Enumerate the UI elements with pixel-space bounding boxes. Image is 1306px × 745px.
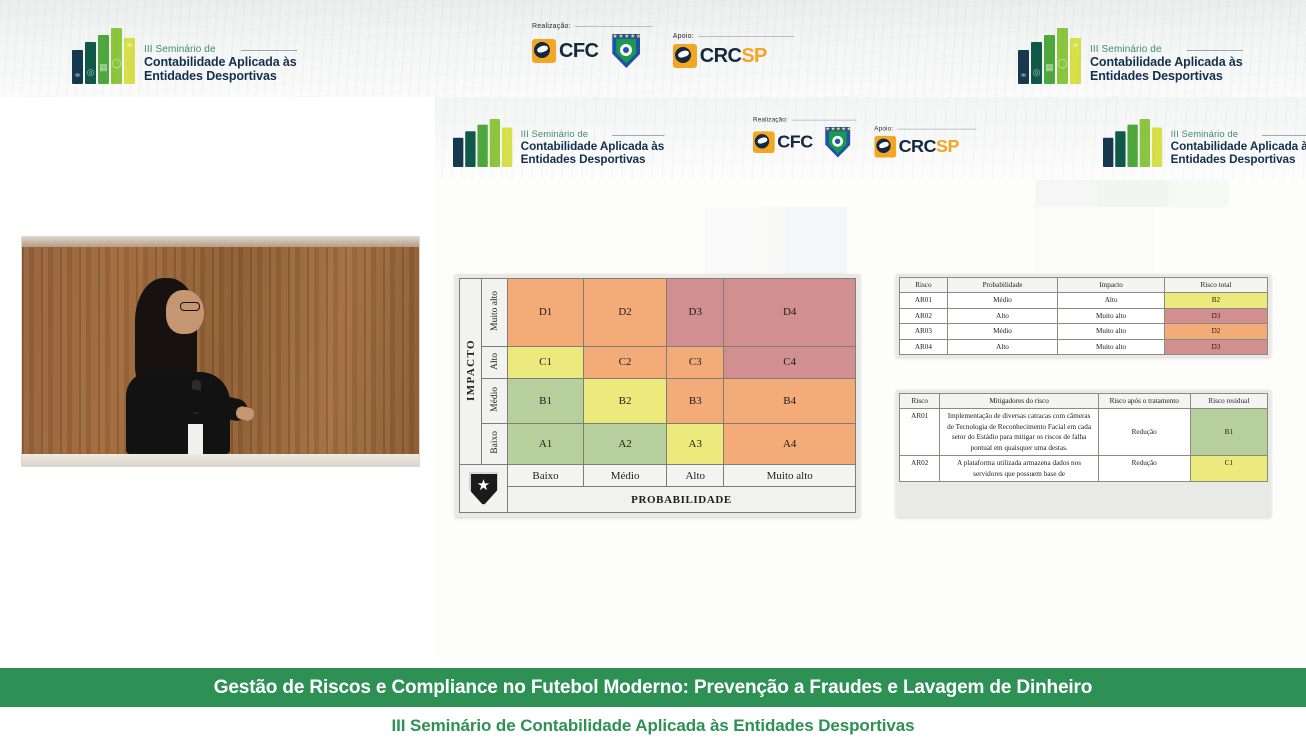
matrix-row: IMPACTO Muito alto D1 D2 D3 D4 [460,279,856,347]
impacto-axis-text: IMPACTO [465,339,477,401]
risk-matrix: IMPACTO Muito alto D1 D2 D3 D4 Alto C1 C… [455,274,860,517]
col-mitigadores: Mitigadores do risco [940,394,1098,409]
crcsp-wordmark: CRCSP [899,136,959,157]
slide-realizacao-block: Realização: CFC ★★★★★ [753,117,856,158]
cbf-globe [832,135,843,146]
matrix-cell-c2: C2 [584,346,667,378]
slide-logo-text: III Seminário de Contabilidade Aplicada … [521,129,664,167]
table-row: AR01 Implementação de diversas catracas … [900,409,1268,456]
seminar-logo-left: ⚭ ◎ ▦ ◯ ⚭ III Seminário de Contabilidade… [72,28,297,84]
presenter-glasses [180,302,200,311]
risk-summary-table-container: Risco Probabilidade Impacto Risco total … [896,274,1271,357]
left-blank-bottom [0,467,435,668]
matrix-axis-row: PROBABILIDADE [460,487,856,513]
logo-bar-1 [453,138,463,167]
mitigation-table-container: Risco Mitigadores do risco Risco após o … [896,390,1271,517]
table-row: AR02 A plataforma utilizada armazena dad… [900,456,1268,482]
cell-tratamento: Redução [1098,456,1190,482]
prob-level-medio: Médio [584,465,667,487]
cbf-stars: ★★★★★ [825,126,850,132]
cbf-crest-inner [829,131,847,154]
cfc-wordmark: CFC [559,40,598,63]
table-row: AR01 Médio Alto B2 [900,293,1268,308]
cell-risco-total: D3 [1164,308,1267,323]
matrix-cell-a2: A2 [584,423,667,464]
col-risco-apos: Risco após o tratamento [1098,394,1190,409]
slide-apoio-block: Apoio: CRCSP [874,126,976,158]
slide-cbf-crest-icon: ★★★★★ [825,127,850,158]
crcsp-mark-icon [673,44,697,68]
cell-residual: B1 [1190,409,1267,456]
logo-line-2: Contabilidade Aplicada às [521,140,664,153]
matrix-cell-a4: A4 [724,423,856,464]
cfc-logo: CFC [532,39,598,63]
cell-mitigador: Implementação de diversas catracas com c… [940,409,1098,456]
left-blank-top [0,97,435,236]
apoio-caption-text: Apoio: [673,33,694,40]
matrix-row: Alto C1 C2 C3 C4 [460,346,856,378]
impact-level-text: Muito alto [490,291,500,331]
logo-bar-2 [1115,131,1125,167]
caption-rule-2 [698,36,794,37]
sp-text: SP [741,45,766,67]
logo-bar-3 [477,125,487,167]
matrix-cell-c3: C3 [667,346,724,378]
logo-line-3: Entidades Desportivas [144,69,297,83]
video-top-strip [22,237,419,247]
risk-matrix-body: IMPACTO Muito alto D1 D2 D3 D4 Alto C1 C… [460,279,856,513]
slide-logo-right: III Seminário de Contabilidade Aplicada … [1103,119,1306,167]
logo-bar-1: ⚭ [1018,50,1029,84]
seminar-logo-text-right: III Seminário de Contabilidade Aplicada … [1090,44,1243,84]
impact-level-label: Alto [482,346,508,378]
logo-line-1: III Seminário de [144,44,297,55]
slide-logo-text-right: III Seminário de Contabilidade Aplicada … [1171,129,1306,167]
realizacao-logos: CFC ★★★★★ [532,34,653,68]
col-risco: Risco [900,278,948,293]
matrix-cell-c4: C4 [724,346,856,378]
col-risco-total: Risco total [1164,278,1267,293]
matrix-cell-d1: D1 [508,279,584,347]
matrix-cell-a1: A1 [508,423,584,464]
cell-probabilidade: Médio [947,293,1057,308]
logo-bar-1 [1103,138,1113,167]
cell-probabilidade: Médio [947,324,1057,339]
logo-line-3: Entidades Desportivas [1171,153,1306,166]
logo-line-2: Contabilidade Aplicada às [1171,140,1306,153]
cell-impacto: Alto [1058,293,1165,308]
slide-cfc-logo: CFC [753,131,813,153]
matrix-cell-d4: D4 [724,279,856,347]
impact-level-text: Médio [490,387,500,412]
slide-apoio-logos: CRCSP [874,136,976,158]
cell-risco: AR01 [900,293,948,308]
crcsp-mark-icon [874,136,896,158]
slide-apoio-label: Apoio: [874,126,976,132]
logo-bar-2: ◎ [1031,42,1042,84]
cell-impacto: Muito alto [1058,308,1165,323]
matrix-row: Médio B1 B2 B3 B4 [460,379,856,424]
caption-rule [792,119,857,120]
slide-logo-left: III Seminário de Contabilidade Aplicada … [453,119,664,167]
presenter-face [166,290,204,334]
presenter-figure [118,272,258,454]
matrix-cell-b2: B2 [584,379,667,424]
col-risco-residual: Risco residual [1190,394,1267,409]
logo-bar-2: ◎ [85,42,96,84]
cfc-mark-icon [532,39,556,63]
logo-bar-1: ⚭ [72,50,83,84]
cell-tratamento: Redução [1098,409,1190,456]
realizacao-caption-text: Realização: [753,117,788,123]
logo-bar-4 [490,119,500,167]
footer-title: Gestão de Riscos e Compliance no Futebol… [214,677,1093,699]
cbf-crest-inner [616,39,636,64]
logo-bar-3: ▦ [1044,35,1055,84]
presenter-badge [188,424,203,454]
crcsp-logo: CRCSP [673,44,767,68]
matrix-cell-b1: B1 [508,379,584,424]
video-bottom-strip [22,454,419,466]
risk-summary-head: Risco Probabilidade Impacto Risco total [900,278,1268,293]
sp-text: SP [936,136,959,156]
caption-rule [575,26,653,27]
cell-probabilidade: Alto [947,308,1057,323]
cell-risco-total: D3 [1164,339,1267,354]
logo-line-3: Entidades Desportivas [1090,69,1243,83]
cell-residual: C1 [1190,456,1267,482]
slide-logo-bars-right [1103,119,1162,167]
matrix-cell-b4: B4 [724,379,856,424]
matrix-row: Baixo A1 A2 A3 A4 [460,423,856,464]
logo-bar-4: ◯ [111,28,122,84]
slide-sponsor-group: Realização: CFC ★★★★★ [753,117,976,158]
footer-subtitle: III Seminário de Contabilidade Aplicada … [392,716,915,736]
cell-risco-total: D2 [1164,324,1267,339]
apoio-logos: CRCSP [673,44,794,68]
realizacao-block: Realização: CFC ★★★★★ [532,23,653,68]
logo-bar-5 [1152,127,1162,166]
logo-bar-5: ⚭ [1070,38,1081,84]
cell-probabilidade: Alto [947,339,1057,354]
cfc-wordmark: CFC [777,132,812,153]
crc-text: CRC [700,45,742,67]
mitigation-body: AR01 Implementação de diversas catracas … [900,409,1268,482]
logo-bar-3 [1127,125,1137,167]
club-crest-cell: ★ [460,465,508,513]
cbf-globe [620,44,632,56]
seminar-logo-bars-right: ⚭ ◎ ▦ ◯ ⚭ [1018,28,1081,84]
matrix-cell-b3: B3 [667,379,724,424]
cell-risco: AR04 [900,339,948,354]
table-header-row: Risco Mitigadores do risco Risco após o … [900,394,1268,409]
realizacao-label: Realização: [532,23,653,30]
col-impacto: Impacto [1058,278,1165,293]
top-banner: ⚭ ◎ ▦ ◯ ⚭ III Seminário de Contabilidade… [0,0,1306,97]
slide-logo-bars [453,119,512,167]
logo-bar-4: ◯ [1057,28,1068,84]
footer-subtitle-bar: III Seminário de Contabilidade Aplicada … [0,707,1306,745]
matrix-cell-a3: A3 [667,423,724,464]
apoio-caption-text: Apoio: [874,126,893,132]
mitigation-table: Risco Mitigadores do risco Risco após o … [899,393,1268,482]
risk-summary-body: AR01 Médio Alto B2 AR02 Alto Muito alto … [900,293,1268,355]
slide-header: III Seminário de Contabilidade Aplicada … [435,97,1306,180]
col-risco: Risco [900,394,940,409]
logo-bar-3: ▦ [98,35,109,84]
table-header-row: Risco Probabilidade Impacto Risco total [900,278,1268,293]
matrix-prob-row: ★ Baixo Médio Alto Muito alto [460,465,856,487]
logo-bar-4 [1140,119,1150,167]
seminar-logo-text: III Seminário de Contabilidade Aplicada … [144,44,297,84]
table-row: AR04 Alto Muito alto D3 [900,339,1268,354]
prob-level-alto: Alto [667,465,724,487]
table-row: AR03 Médio Muito alto D2 [900,324,1268,339]
mitigation-head: Risco Mitigadores do risco Risco após o … [900,394,1268,409]
logo-line-1: III Seminário de [521,129,664,139]
matrix-cell-d3: D3 [667,279,724,347]
matrix-cell-d2: D2 [584,279,667,347]
table-row: AR02 Alto Muito alto D3 [900,308,1268,323]
sponsor-group: Realização: CFC ★★★★★ [532,23,794,68]
cell-impacto: Muito alto [1058,324,1165,339]
cell-risco: AR01 [900,409,940,456]
risk-summary-table: Risco Probabilidade Impacto Risco total … [899,277,1268,355]
prob-level-muito-alto: Muito alto [724,465,856,487]
cbf-crest-icon: ★★★★★ [612,34,640,68]
slide-realizacao-logos: CFC ★★★★★ [753,127,856,158]
cell-impacto: Muito alto [1058,339,1165,354]
apoio-block: Apoio: CRCSP [673,33,794,68]
prob-level-baixo: Baixo [508,465,584,487]
presenter-video[interactable] [21,236,420,467]
crc-text: CRC [899,136,936,156]
impact-level-text: Alto [490,353,500,370]
cfc-mark-icon [753,131,775,153]
logo-bar-5: ⚭ [124,38,135,84]
crcsp-wordmark: CRCSP [700,45,767,68]
footer-title-bar: Gestão de Riscos e Compliance no Futebol… [0,668,1306,707]
logo-line-2: Contabilidade Aplicada às [144,55,297,69]
logo-bar-2 [465,131,475,167]
logo-line-1: III Seminário de [1171,129,1306,139]
seminar-logo-right: ⚭ ◎ ▦ ◯ ⚭ III Seminário de Contabilidade… [1018,28,1243,84]
impact-level-label: Médio [482,379,508,424]
impact-level-label: Baixo [482,423,508,464]
risk-matrix-table: IMPACTO Muito alto D1 D2 D3 D4 Alto C1 C… [459,278,856,513]
botafogo-shield-icon: ★ [469,472,499,506]
cell-risco: AR02 [900,456,940,482]
col-probabilidade: Probabilidade [947,278,1057,293]
apoio-label: Apoio: [673,33,794,40]
cell-risco: AR02 [900,308,948,323]
slide-realizacao-label: Realização: [753,117,856,123]
impact-level-text: Baixo [490,431,500,454]
cell-risco: AR03 [900,324,948,339]
cell-risco-total: B2 [1164,293,1267,308]
logo-line-3: Entidades Desportivas [521,153,664,166]
cell-mitigador: A plataforma utilizada armazena dados no… [940,456,1098,482]
logo-line-1: III Seminário de [1090,44,1243,55]
slide-content: III Seminário de Contabilidade Aplicada … [435,97,1306,660]
impact-level-label: Muito alto [482,279,508,347]
presentation-screen: ⚭ ◎ ▦ ◯ ⚭ III Seminário de Contabilidade… [0,0,1306,745]
slide-crcsp-logo: CRCSP [874,136,959,158]
caption-rule-2 [897,128,976,129]
impacto-axis-label: IMPACTO [460,279,482,465]
seminar-logo-bars: ⚭ ◎ ▦ ◯ ⚭ [72,28,135,84]
probabilidade-axis-label: PROBABILIDADE [508,487,856,513]
logo-bar-5 [502,127,512,166]
star-glyph: ★ [477,479,490,494]
matrix-cell-c1: C1 [508,346,584,378]
logo-line-2: Contabilidade Aplicada às [1090,55,1243,69]
realizacao-caption-text: Realização: [532,23,571,30]
